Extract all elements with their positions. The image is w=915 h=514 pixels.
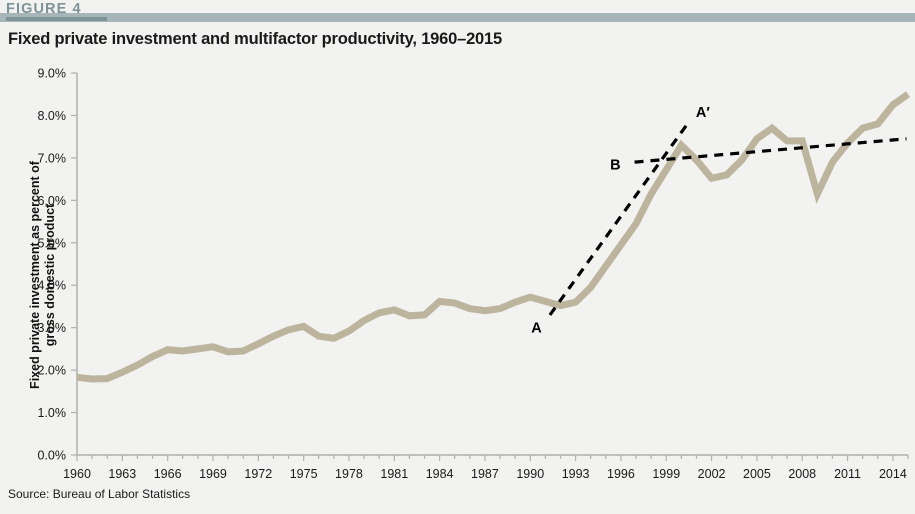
y-tick-label: 6.0% <box>38 194 67 208</box>
y-tick-label: 1.0% <box>38 406 67 420</box>
x-tick-label: 1993 <box>562 467 590 480</box>
chart-area: Fixed private investment as percent of g… <box>0 60 915 480</box>
figure-header-bar <box>0 13 915 22</box>
source-note: Source: Bureau of Labor Statistics <box>8 487 190 501</box>
x-tick-label: 1978 <box>335 467 363 480</box>
figure-header: FIGURE 4 <box>0 0 915 22</box>
x-tick-label: 1963 <box>108 467 136 480</box>
chart-title: Fixed private investment and multifactor… <box>8 30 502 49</box>
annotation-group: AA′BB′ <box>531 105 915 336</box>
x-tick-label: 1981 <box>380 467 408 480</box>
data-series-line <box>77 94 908 379</box>
y-axis-tick-group: 0.0%1.0%2.0%3.0%4.0%5.0%6.0%7.0%8.0%9.0% <box>38 67 78 463</box>
x-tick-label: 2014 <box>879 467 907 480</box>
line-A-Aprime-end-label: A′ <box>696 105 710 121</box>
x-tick-label: 1960 <box>63 467 91 480</box>
x-tick-label: 1984 <box>426 467 454 480</box>
figure-number-label: FIGURE 4 <box>6 1 82 17</box>
x-tick-label: 1969 <box>199 467 227 480</box>
line-B-Bprime-start-label: B <box>610 157 620 173</box>
y-tick-label: 3.0% <box>38 321 67 335</box>
x-tick-label: 1999 <box>652 467 680 480</box>
x-tick-label: 1987 <box>471 467 499 480</box>
y-tick-label: 5.0% <box>38 236 67 250</box>
y-tick-label: 7.0% <box>38 151 67 165</box>
y-tick-label: 4.0% <box>38 279 67 293</box>
x-tick-label: 1996 <box>607 467 635 480</box>
y-tick-label: 9.0% <box>38 67 67 81</box>
x-tick-label: 1966 <box>154 467 182 480</box>
x-tick-label: 1990 <box>516 467 544 480</box>
x-tick-label: 2005 <box>743 467 771 480</box>
y-tick-label: 2.0% <box>38 364 67 378</box>
y-tick-label: 0.0% <box>38 449 67 463</box>
x-tick-label: 1975 <box>290 467 318 480</box>
x-tick-label: 2002 <box>698 467 726 480</box>
y-tick-label: 8.0% <box>38 109 67 123</box>
x-axis-tick-group: 1960196319661969197219751978198119841987… <box>63 455 908 480</box>
line-chart-svg: 0.0%1.0%2.0%3.0%4.0%5.0%6.0%7.0%8.0%9.0%… <box>0 60 915 480</box>
line-A-Aprime <box>550 122 689 315</box>
line-A-Aprime-start-label: A <box>531 320 542 336</box>
x-tick-label: 1972 <box>244 467 272 480</box>
x-tick-label: 2008 <box>788 467 816 480</box>
x-tick-label: 2011 <box>834 467 861 480</box>
figure-number-underline <box>6 17 107 21</box>
